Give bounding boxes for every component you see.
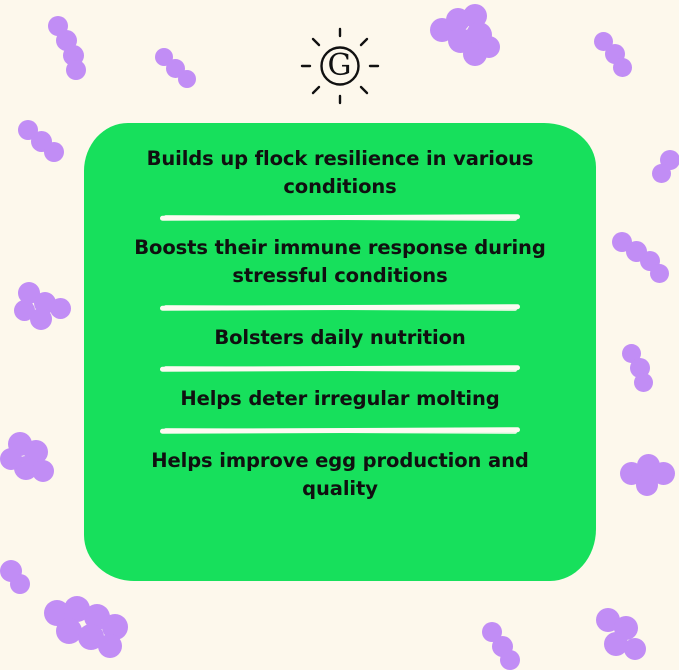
decor-blob: [32, 460, 54, 482]
benefit-item: Builds up flock resilience in various co…: [120, 145, 560, 200]
decor-blob: [463, 4, 487, 28]
decor-blob: [626, 241, 647, 262]
decor-blob: [98, 634, 122, 658]
divider: [160, 303, 520, 312]
decor-blob: [14, 456, 38, 480]
decor-blob: [630, 358, 650, 378]
decor-blob: [624, 638, 646, 660]
decor-blob: [34, 292, 56, 314]
decor-blob: [660, 150, 679, 170]
decor-blob: [652, 164, 671, 183]
divider: [160, 426, 520, 435]
decor-blob: [604, 632, 628, 656]
brand-logo: G: [0, 26, 679, 106]
decor-blob: [634, 373, 653, 392]
decor-blob: [31, 131, 52, 152]
decor-blob: [84, 604, 110, 630]
decor-blob: [30, 308, 52, 330]
decor-blob: [650, 264, 669, 283]
decor-blob: [14, 300, 35, 321]
benefit-item: Boosts their immune response during stre…: [120, 234, 560, 289]
benefit-item: Helps improve egg production and quality: [120, 447, 560, 502]
divider: [160, 364, 520, 373]
decor-blob: [44, 142, 64, 162]
decor-blob: [612, 232, 632, 252]
decor-blob: [482, 622, 502, 642]
logo-letter: G: [328, 51, 352, 81]
divider: [160, 213, 520, 222]
decor-blob: [637, 454, 660, 477]
decor-blob: [492, 636, 513, 657]
decor-blob: [0, 560, 22, 582]
decor-blob: [50, 298, 71, 319]
decor-blob: [64, 596, 90, 622]
decor-blob: [44, 600, 70, 626]
benefit-item: Helps deter irregular molting: [120, 385, 560, 413]
decor-blob: [652, 462, 675, 485]
decor-blob: [56, 618, 82, 644]
decor-blob: [622, 344, 641, 363]
benefit-item: Bolsters daily nutrition: [120, 324, 560, 352]
decor-blob: [500, 650, 520, 670]
benefits-card: Builds up flock resilience in various co…: [84, 123, 596, 581]
decor-blob: [10, 574, 30, 594]
decor-blob: [18, 282, 40, 304]
decor-blob: [620, 462, 643, 485]
decor-blob: [614, 616, 638, 640]
decor-blob: [596, 608, 620, 632]
decor-blob: [24, 440, 48, 464]
decor-blob: [0, 448, 22, 470]
decor-blob: [18, 120, 38, 140]
decor-blob: [8, 432, 32, 456]
decor-blob: [78, 624, 104, 650]
decor-blob: [102, 614, 128, 640]
decor-blob: [636, 474, 658, 496]
decor-blob: [640, 251, 660, 271]
